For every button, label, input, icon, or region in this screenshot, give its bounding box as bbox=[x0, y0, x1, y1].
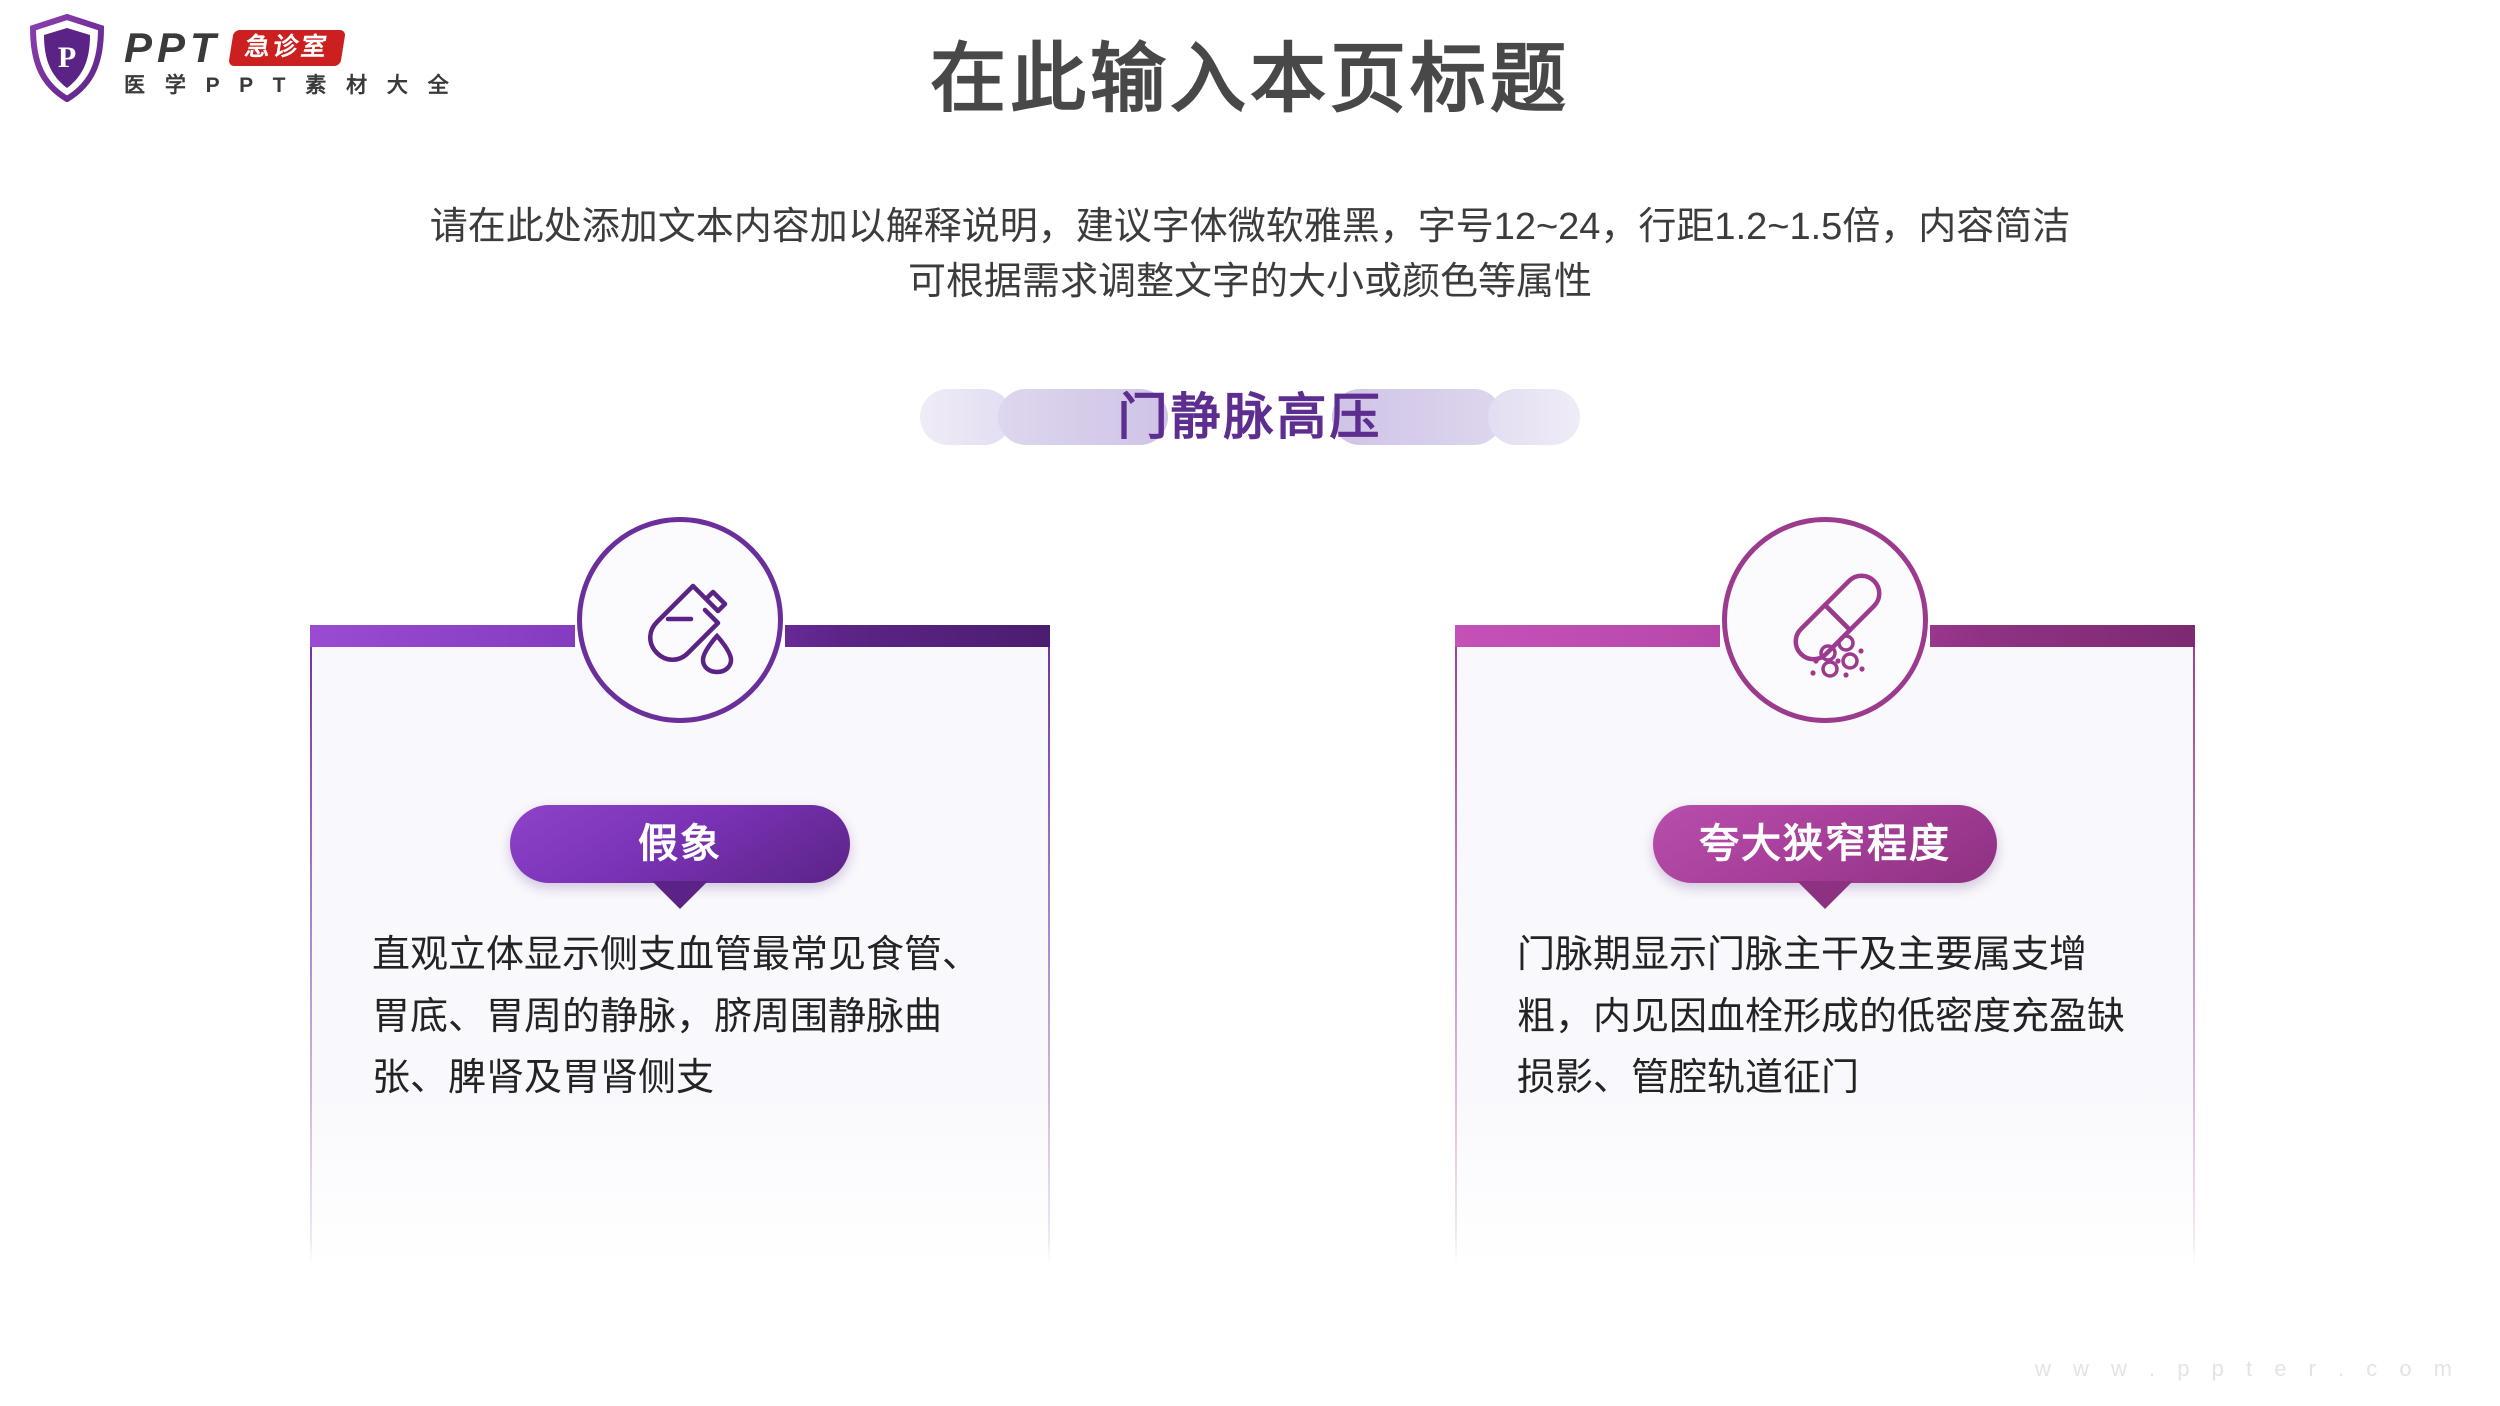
banner-capsule-right-outer bbox=[1488, 389, 1580, 445]
card-left-label-pill: 假象 bbox=[510, 805, 850, 883]
card-right-pill-tail bbox=[1797, 881, 1853, 909]
section-title: 门静脉高压 bbox=[1108, 392, 1393, 442]
page-subtitle: 请在此处添加文本内容加以解释说明，建议字体微软雅黑，字号12~24，行距1.2~… bbox=[0, 200, 2500, 310]
page-title: 在此输入本页标题 bbox=[0, 38, 2500, 122]
card-right-label: 夸大狭窄程度 bbox=[1699, 824, 1951, 864]
card-left-pill-bg: 假象 bbox=[510, 805, 850, 883]
footer-watermark-url: w w w . p p t e r . c o m bbox=[2035, 1356, 2460, 1382]
card-left-label: 假象 bbox=[638, 824, 722, 864]
card-left-body-text: 直观立体显示侧支血管最常见食管、胃底、胃周的静脉，脐周围静脉曲张、脾肾及胃肾侧支 bbox=[372, 925, 994, 1110]
card-right-body-text: 门脉期显示门脉主干及主要属支增粗，内见因血栓形成的低密度充盈缺损影、管腔轨道征门 bbox=[1517, 925, 2139, 1110]
card-left[interactable]: 假象 直观立体显示侧支血管最常见食管、胃底、胃周的静脉，脐周围静脉曲张、脾肾及胃… bbox=[310, 625, 1050, 1265]
card-left-edge-left bbox=[310, 625, 312, 1265]
card-right-label-pill: 夸大狭窄程度 bbox=[1653, 805, 1997, 883]
subtitle-line-1: 请在此处添加文本内容加以解释说明，建议字体微软雅黑，字号12~24，行距1.2~… bbox=[0, 200, 2500, 255]
card-left-edge-right bbox=[1048, 625, 1050, 1265]
capsule-pill-icon bbox=[1722, 517, 1928, 723]
card-right[interactable]: 夸大狭窄程度 门脉期显示门脉主干及主要属支增粗，内见因血栓形成的低密度充盈缺损影… bbox=[1455, 625, 2195, 1265]
card-right-edge-right bbox=[2193, 625, 2195, 1265]
card-right-pill-bg: 夸大狭窄程度 bbox=[1653, 805, 1997, 883]
card-left-pill-tail bbox=[652, 881, 708, 909]
blood-test-tube-icon bbox=[577, 517, 783, 723]
card-right-edge-left bbox=[1455, 625, 1457, 1265]
subtitle-line-2: 可根据需求调整文字的大小或颜色等属性 bbox=[0, 255, 2500, 310]
section-banner: 门静脉高压 bbox=[920, 383, 1580, 451]
